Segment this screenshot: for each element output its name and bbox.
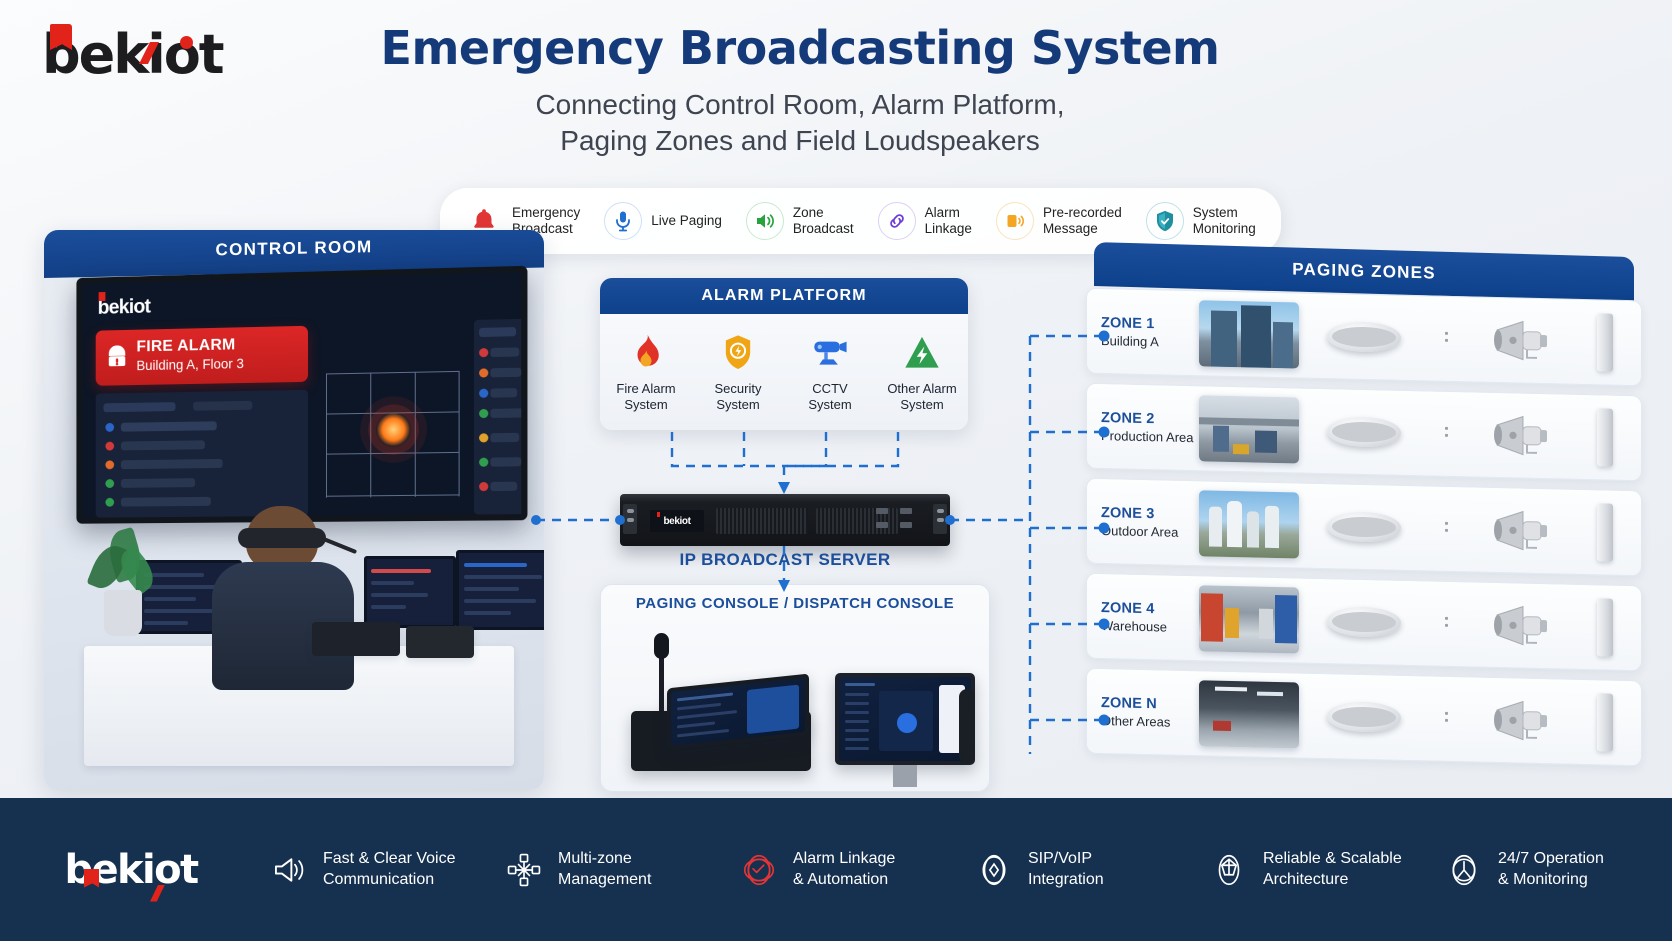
column-speaker-icon [1597,313,1613,371]
ceiling-speaker-icon [1327,511,1401,543]
control-room-panel: CONTROL ROOM bekiot FIRE ALARM Building … [44,230,544,790]
zone-text: ZONE 2 Production Area [1087,409,1199,445]
network-nodes-icon [503,849,545,891]
zone-name: ZONE N [1101,695,1199,713]
ceiling-speaker-icon [1327,416,1401,448]
footer-label-line-1: Fast & Clear Voice [323,850,456,867]
status-led-icon [1445,332,1448,346]
feature-label: Zone Broadcast [793,205,854,238]
footer-label-line-2: Integration [1028,871,1104,888]
ceiling-speaker-icon [1327,606,1401,638]
paging-console-title: PAGING CONSOLE / DISPATCH CONSOLE [601,595,989,612]
feature-label-line-1: Emergency [512,205,580,220]
footer-label-line-1: SIP/VoIP [1028,850,1092,867]
horn-speaker-icon [1493,318,1553,363]
status-led-icon [1445,617,1448,631]
wall-panel-right [474,319,528,515]
column-speaker-icon [1597,503,1613,561]
footer-item-label: Reliable & Scalable Architecture [1263,849,1402,891]
status-led-icon [1445,712,1448,726]
alarm-source-other-alarm-system[interactable]: Other Alarm System [876,331,968,414]
zone-text: ZONE 3 Outdoor Area [1087,504,1199,540]
page-subtitle-line-2: Paging Zones and Field Loudspeakers [330,123,1270,159]
zone-row[interactable]: ZONE 3 Outdoor Area [1086,478,1642,577]
zone-name: ZONE 3 [1101,505,1199,523]
rack-ear-right [933,504,947,534]
zone-area: Outdoor Area [1101,523,1199,540]
fire-icon [600,331,692,375]
feature-label: Alarm Linkage [925,205,972,238]
footer-item-24-7-operation-monitoring[interactable]: 24/7 Operation & Monitoring [1437,849,1672,891]
ip-broadcast-server-unit: bekiot [620,494,950,546]
zone-area: Building A [1101,333,1199,350]
alarm-source-label-line-2: System [808,397,851,412]
status-led-icon [1445,522,1448,536]
wall-panel-left [96,390,308,518]
ceiling-speaker-icon [1327,701,1401,733]
feature-label-line-1: Zone [793,205,824,220]
alarm-source-label-line-1: Other Alarm [887,381,956,396]
zone-name: ZONE 4 [1101,600,1199,618]
zone-photo-indoor-hall [1199,680,1299,748]
alarm-source-label: Fire Alarm System [600,381,692,414]
paging-console-panel: PAGING CONSOLE / DISPATCH CONSOLE [600,584,990,792]
feature-label-line-1: Live Paging [651,213,722,228]
horn-speaker-icon [1493,508,1553,553]
architecture-icon [1208,849,1250,891]
ip-broadcast-server-group: bekiot IP BROADCAST SERVER [620,494,950,568]
feature-label-line-1: System [1193,205,1238,220]
dispatch-console-monitor [835,673,975,765]
microphone-icon [604,202,642,240]
feature-label-line-1: Alarm [925,205,960,220]
dispatch-handset [959,689,975,763]
alarm-source-label: Other Alarm System [876,381,968,414]
brand-logo: bekiot [42,20,247,90]
server-badge-text: bekiot [663,516,690,527]
logo-flag-icon [99,292,106,301]
video-wall-logo: bekiot [98,296,151,320]
zone-row[interactable]: ZONE N Other Areas [1086,668,1642,767]
gooseneck-microphone [659,643,664,713]
zone-area: Other Areas [1101,713,1199,730]
footer-label-line-1: 24/7 Operation [1498,850,1604,867]
bolt-icon [876,331,968,375]
server-status-leds [876,508,920,534]
feature-label-line-2: Message [1043,221,1098,236]
page-title: Emergency Broadcasting System [330,22,1270,75]
feature-label: Pre-recorded Message [1043,205,1122,238]
alarm-source-label-line-1: Security [715,381,762,396]
horn-speaker-icon [1493,698,1553,743]
footer-logo: bekiot [0,847,262,893]
potted-plant [90,530,156,640]
desk-phone [406,626,474,658]
feature-alarm-linkage[interactable]: Alarm Linkage [869,202,981,240]
footer-bar: bekiot Fast & Clear Voice Communication … [0,798,1672,941]
footer-item-label: Alarm Linkage & Automation [793,849,895,891]
footer-item-reliable-scalable-architecture[interactable]: Reliable & Scalable Architecture [1202,849,1437,891]
column-speaker-icon [1597,693,1613,751]
alarm-platform-panel: ALARM PLATFORM Fire Alarm System Securit… [600,278,968,430]
diagram-stage: CONTROL ROOM bekiot FIRE ALARM Building … [0,236,1672,802]
zone-area: Production Area [1101,428,1199,445]
shield-check-icon [1146,202,1184,240]
feature-label-line-1: Pre-recorded [1043,205,1122,220]
zone-text: ZONE 4 Warehouse [1087,599,1199,635]
fire-alarm-banner: FIRE ALARM Building A, Floor 3 [96,326,308,386]
ceiling-speaker-icon [1327,321,1401,353]
fire-alarm-title: FIRE ALARM [136,337,235,356]
feature-pre-recorded-message[interactable]: Pre-recorded Message [987,202,1131,240]
zone-row[interactable]: ZONE 2 Production Area [1086,383,1642,482]
horn-speaker-icon [1493,413,1553,458]
fire-alarm-text: FIRE ALARM Building A, Floor 3 [136,336,243,376]
zone-photo-warehouse-aisle [1199,585,1299,653]
paging-microphone-device [312,622,400,656]
alarm-source-label-line-2: System [900,397,943,412]
feature-label-line-2: Linkage [925,221,972,236]
zone-speakers [1299,402,1641,468]
video-wall-display: bekiot FIRE ALARM Building A, Floor 3 [76,266,527,524]
zone-name: ZONE 2 [1101,410,1199,428]
footer-item-label: 24/7 Operation & Monitoring [1498,849,1604,891]
ip-broadcast-server-label: IP BROADCAST SERVER [620,550,950,570]
alarm-source-security-system[interactable]: Security System [692,331,784,414]
footer-label-line-2: Communication [323,871,434,888]
footer-item-label: SIP/VoIP Integration [1028,849,1104,891]
cctv-icon [784,331,876,375]
alarm-source-label-line-1: Fire Alarm [616,381,675,396]
title-block: Emergency Broadcasting System Connecting… [330,22,1270,160]
page-subtitle-line-1: Connecting Control Room, Alarm Platform, [330,87,1270,123]
alarm-source-label-line-1: CCTV [812,381,847,396]
sip-voip-icon [973,849,1015,891]
link-icon [878,202,916,240]
footer-item-fast-clear-voice[interactable]: Fast & Clear Voice Communication [262,849,497,891]
fire-alarm-subtitle: Building A, Floor 3 [136,356,243,373]
footer-item-alarm-linkage-automation[interactable]: Alarm Linkage & Automation [732,849,967,891]
paging-console-tablet-screen [671,678,805,746]
zone-row[interactable]: ZONE 4 Warehouse [1086,573,1642,672]
video-wall-logo-text: bekiot [98,296,151,319]
alarm-source-label: Security System [692,381,784,414]
clock-icon [1443,849,1485,891]
server-brand-badge: bekiot [650,510,704,532]
dispatch-console-screen [839,677,971,761]
zone-name: ZONE 1 [1101,315,1199,333]
megaphone-icon [268,849,310,891]
paging-zones-panel: PAGING ZONES ZONE 1 Building A [1086,236,1642,788]
footer-label-line-1: Alarm Linkage [793,850,895,867]
feature-system-monitoring[interactable]: System Monitoring [1137,202,1265,240]
zone-row[interactable]: ZONE 1 Building A [1086,288,1642,387]
message-icon [996,202,1034,240]
logo-flag-icon [657,512,660,517]
feature-label: System Monitoring [1193,205,1256,238]
speaker-icon [746,202,784,240]
alarm-platform-body: Fire Alarm System Security System CC [600,314,968,430]
feature-zone-broadcast[interactable]: Zone Broadcast [737,202,863,240]
zone-area: Warehouse [1101,618,1199,635]
zone-text: ZONE N Other Areas [1087,694,1199,730]
zone-speakers [1299,307,1641,373]
footer-label-line-2: & Automation [793,871,888,888]
footer-label-line-2: Architecture [1263,871,1348,888]
feature-label-line-2: Monitoring [1193,221,1256,236]
zone-text: ZONE 1 Building A [1087,314,1199,350]
zone-photo-office-buildings [1199,300,1299,368]
alarm-source-cctv-system[interactable]: CCTV System [784,331,876,414]
dispatch-monitor-stand [893,765,917,787]
footer-label-line-2: Management [558,871,651,888]
logo-dot-icon [180,36,193,49]
alarm-source-label-line-2: System [716,397,759,412]
footer-label-line-2: & Monitoring [1498,871,1588,888]
footer-items: Fast & Clear Voice Communication Multi-z… [262,849,1672,891]
zone-photo-industrial-tanks [1199,490,1299,558]
column-speaker-icon [1597,598,1613,656]
alarm-platform-header: ALARM PLATFORM [600,278,968,314]
footer-item-label: Multi-zone Management [558,849,651,891]
column-speaker-icon [1597,408,1613,466]
server-vent-left [716,508,808,534]
footer-item-multi-zone-management[interactable]: Multi-zone Management [497,849,732,891]
horn-speaker-icon [1493,603,1553,648]
alarm-source-label-line-2: System [624,397,667,412]
feature-live-paging[interactable]: Live Paging [595,202,731,240]
feature-label: Live Paging [651,213,722,229]
fire-alert-icon [105,343,128,373]
page-subtitle: Connecting Control Room, Alarm Platform,… [330,87,1270,160]
alarm-source-label: CCTV System [784,381,876,414]
zone-speakers [1299,497,1641,563]
zone-speakers [1299,592,1641,658]
zone-photo-factory-floor [1199,395,1299,463]
rack-ear-left [623,504,637,534]
footer-label-line-1: Reliable & Scalable [1263,850,1402,867]
footer-item-label: Fast & Clear Voice Communication [323,849,456,891]
alarm-link-icon [738,849,780,891]
status-led-icon [1445,427,1448,441]
shield-icon [692,331,784,375]
alarm-source-fire-alarm-system[interactable]: Fire Alarm System [600,331,692,414]
footer-item-sip-voip-integration[interactable]: SIP/VoIP Integration [967,849,1202,891]
footer-label-line-1: Multi-zone [558,850,632,867]
zone-speakers [1299,687,1641,753]
feature-label-line-2: Broadcast [793,221,854,236]
desk-monitor-right [456,550,544,630]
